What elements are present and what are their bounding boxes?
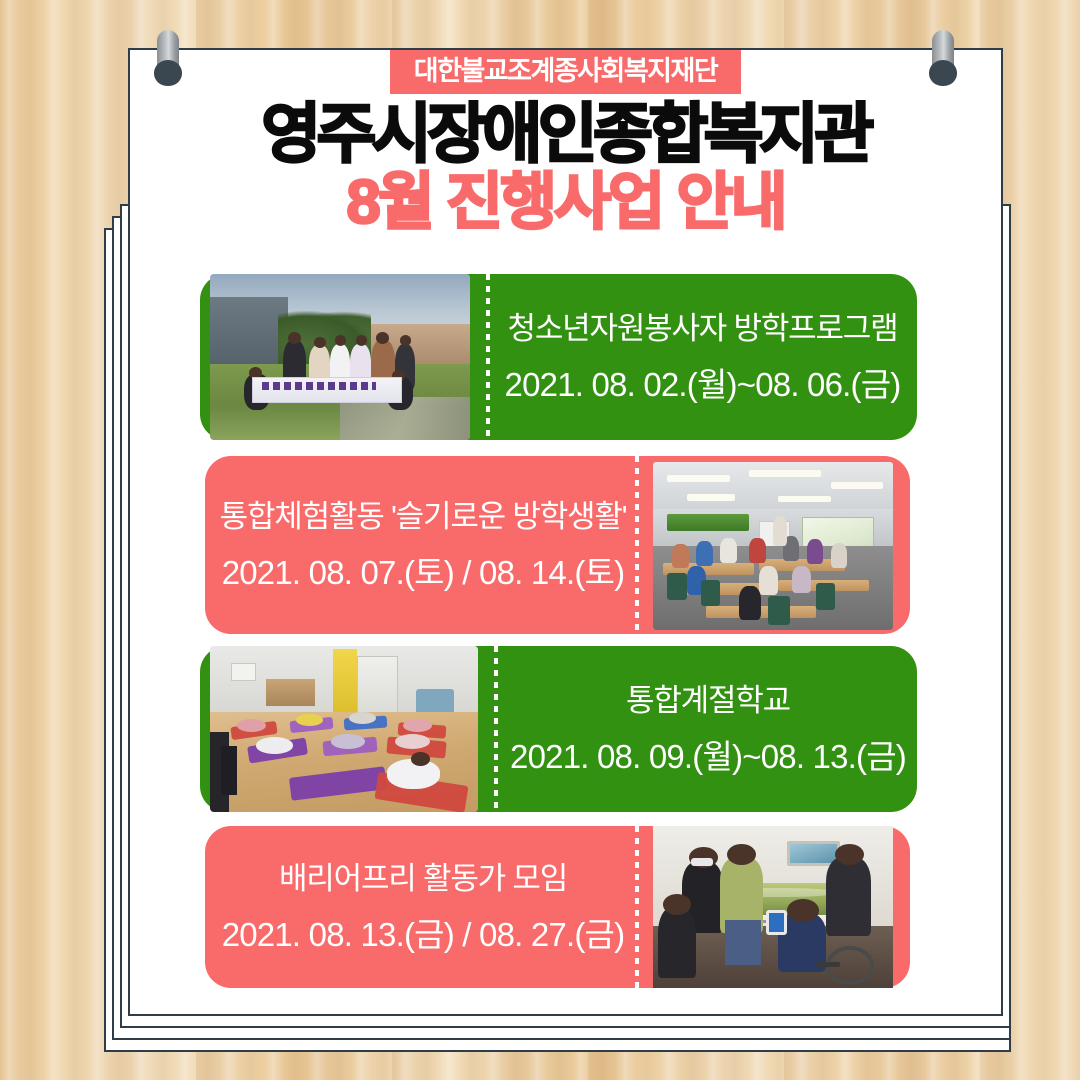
poster-canvas: 대한불교조계종사회복지재단 영주시장애인종합복지관 8월 진행사업 안내	[0, 0, 1080, 1080]
photo-scene-museum-model	[653, 826, 893, 988]
magnet-pin-left-icon	[157, 30, 179, 88]
program-card-1[interactable]: 청소년자원봉사자 방학프로그램 2021. 08. 02.(월)~08. 06.…	[200, 274, 917, 440]
magnet-pin-right-icon	[932, 30, 954, 88]
program-card-4[interactable]: 배리어프리 활동가 모임 2021. 08. 13.(금) / 08. 27.(…	[205, 826, 910, 988]
card-date-2: 2021. 08. 07.(토) / 08. 14.(토)	[222, 552, 625, 593]
pin-knob	[154, 60, 182, 86]
card-text-2: 통합체험활동 '슬기로운 방학생활' 2021. 08. 07.(토) / 08…	[213, 456, 633, 634]
program-photo-2	[653, 462, 893, 630]
photo-scene-yoga-room	[210, 646, 478, 812]
poster-header: 대한불교조계종사회복지재단 영주시장애인종합복지관 8월 진행사업 안내	[128, 48, 1003, 236]
card-title-3: 통합계절학교	[626, 681, 790, 721]
page-title: 영주시장애인종합복지관	[128, 100, 1003, 168]
card-text-4: 배리어프리 활동가 모임 2021. 08. 13.(금) / 08. 27.(…	[213, 826, 633, 988]
card-text-1: 청소년자원봉사자 방학프로그램 2021. 08. 02.(월)~08. 06.…	[500, 274, 905, 440]
card-title-2: 통합체험활동 '슬기로운 방학생활'	[220, 497, 627, 537]
program-photo-3	[210, 646, 478, 812]
card-title-4: 배리어프리 활동가 모임	[279, 859, 567, 899]
pin-knob	[929, 60, 957, 86]
card-text-3: 통합계절학교 2021. 08. 09.(월)~08. 13.(금)	[508, 646, 908, 812]
program-card-2[interactable]: 통합체험활동 '슬기로운 방학생활' 2021. 08. 07.(토) / 08…	[205, 456, 910, 634]
card-divider-1	[486, 274, 490, 440]
card-divider-2	[635, 456, 639, 634]
photo-scene-classroom	[653, 462, 893, 630]
card-date-1: 2021. 08. 02.(월)~08. 06.(금)	[505, 364, 901, 405]
photo-scene-outdoor-group	[210, 274, 470, 440]
card-divider-4	[635, 826, 639, 988]
card-title-1: 청소년자원봉사자 방학프로그램	[508, 309, 898, 349]
card-divider-3	[494, 646, 498, 812]
program-card-3[interactable]: 통합계절학교 2021. 08. 09.(월)~08. 13.(금)	[200, 646, 917, 812]
card-date-3: 2021. 08. 09.(월)~08. 13.(금)	[510, 736, 906, 777]
card-date-4: 2021. 08. 13.(금) / 08. 27.(금)	[222, 914, 625, 955]
page-subtitle: 8월 진행사업 안내	[128, 170, 1003, 236]
organization-badge: 대한불교조계종사회복지재단	[390, 50, 741, 94]
program-photo-4	[653, 826, 893, 988]
program-photo-1	[210, 274, 470, 440]
